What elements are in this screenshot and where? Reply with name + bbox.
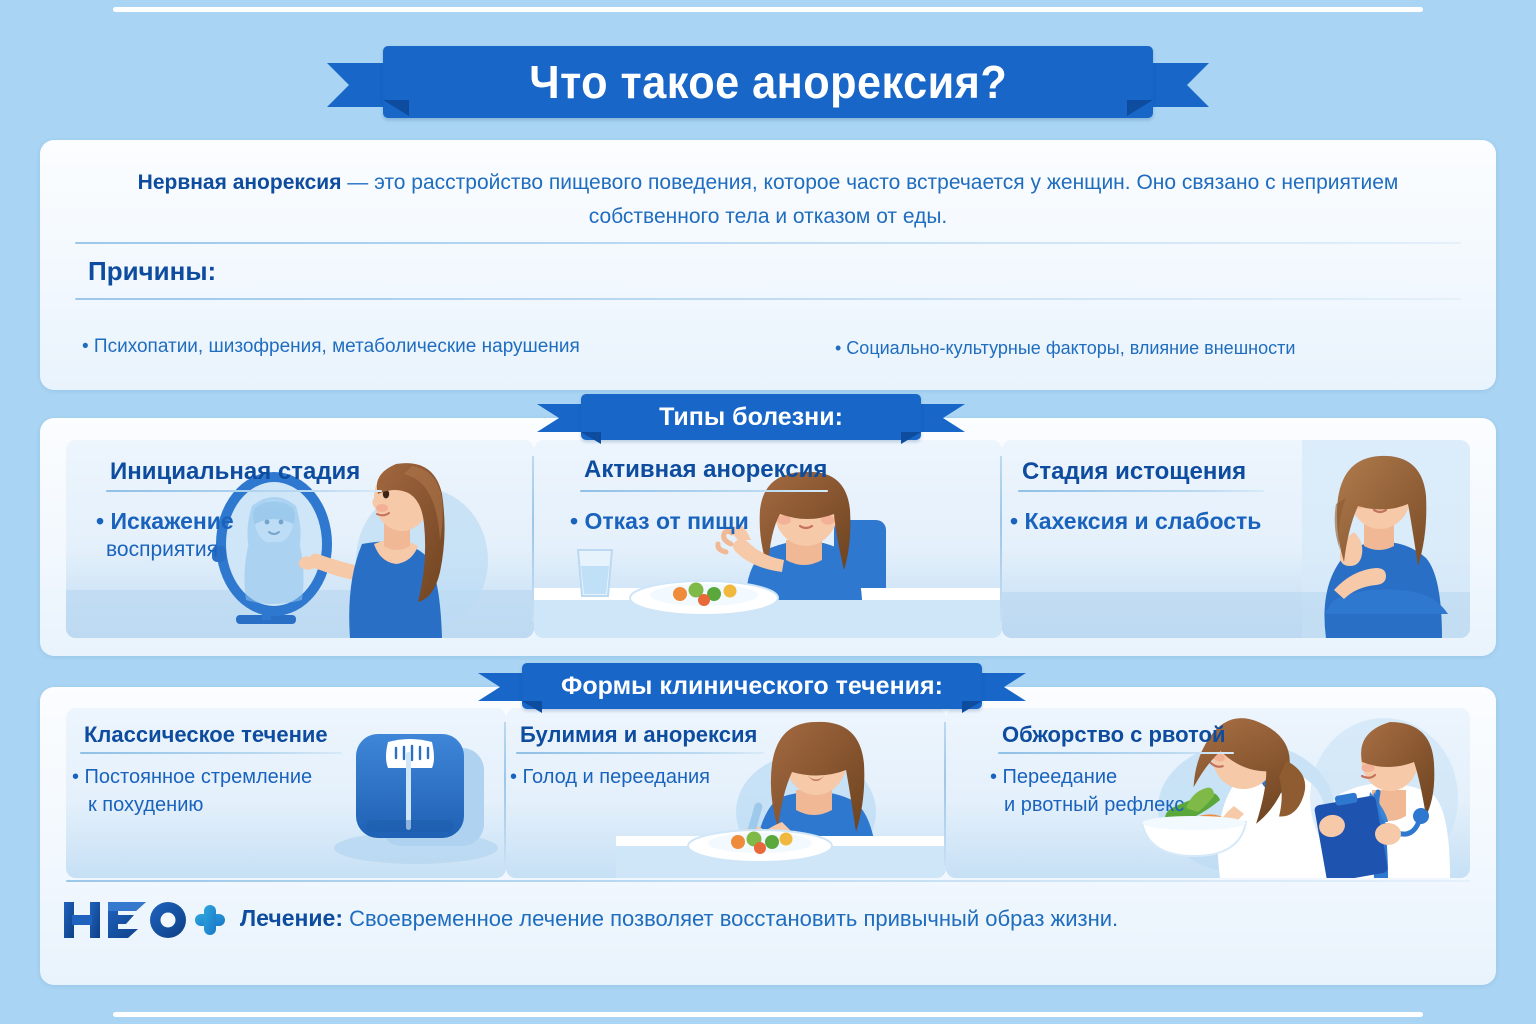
card-divider-1	[944, 722, 946, 866]
form-card-title: Булимия и анорексия	[520, 722, 757, 748]
card-divider-0	[532, 456, 534, 622]
form-card-bulimia: Булимия и анорексия • Голод и переедания	[506, 708, 946, 878]
logo-icon	[62, 896, 227, 944]
form-card-line1: • Переедание	[990, 766, 1117, 789]
type-card-title: Активная анорексия	[584, 456, 827, 484]
forms-section-title: Формы клинического течения:	[561, 672, 943, 701]
forms-card-row: Классическое течение • Постоянное стремл…	[66, 708, 1470, 878]
intro-panel: Нервная анорексия — это расстройство пищ…	[40, 140, 1496, 390]
type-card-initial: Инициальная стадия • Искажение восприяти…	[66, 440, 534, 638]
types-section-ribbon: Типы болезни:	[581, 394, 921, 440]
treatment-label: Лечение:	[240, 905, 343, 931]
bottom-trim-bar	[113, 1012, 1423, 1017]
intro-divider-top	[75, 242, 1461, 244]
type-card-title: Инициальная стадия	[110, 458, 360, 486]
treatment-text: Своевременное лечение позволяет восстано…	[343, 906, 1118, 931]
form-card-classic: Классическое течение • Постоянное стремл…	[66, 708, 506, 878]
card-divider-1	[1000, 456, 1002, 622]
type-card-active: Активная анорексия • Отказ от пищи	[534, 440, 1002, 638]
ribbon-plate: Формы клинического течения:	[522, 663, 982, 709]
top-trim-bar	[113, 7, 1423, 12]
ribbon-plate: Типы болезни:	[581, 394, 921, 440]
intro-rest: — это расстройство пищевого поведения, к…	[341, 171, 1398, 228]
form-card-divider	[80, 752, 342, 754]
type-card-line1: • Искажение	[96, 508, 234, 535]
type-card-divider	[106, 490, 382, 492]
cause-item-0: • Психопатии, шизофрения, метаболические…	[82, 336, 580, 358]
infographic-root: Что такое анорексия? Нервная анорексия —…	[0, 0, 1536, 1024]
card-divider-0	[504, 722, 506, 866]
form-card-title: Обжорство с рвотой	[1002, 722, 1226, 748]
page-title: Что такое анорексия?	[529, 55, 1007, 109]
forms-section-ribbon: Формы клинического течения:	[522, 663, 982, 709]
causes-heading: Причины:	[88, 256, 216, 287]
type-card-divider	[580, 490, 828, 492]
footer-divider	[66, 880, 1470, 882]
form-card-title: Классическое течение	[84, 722, 328, 748]
form-card-line2: к похудению	[88, 794, 203, 817]
intro-lead: Нервная анорексия	[138, 171, 342, 194]
type-card-line1: • Кахексия и слабость	[1010, 508, 1261, 535]
form-card-title-rest: и анорексия	[618, 722, 758, 747]
type-card-line2: восприятия	[106, 538, 218, 562]
types-card-row: Инициальная стадия • Искажение восприяти…	[66, 440, 1470, 638]
intro-divider-bottom	[75, 298, 1461, 300]
form-card-divider	[516, 752, 764, 754]
types-section-title: Типы болезни:	[659, 403, 843, 432]
form-card-line2: и рвотный рефлекс	[1004, 794, 1184, 817]
page-title-ribbon: Что такое анорексия?	[383, 46, 1153, 118]
form-card-title-bold: Булимия	[520, 722, 618, 747]
type-card-exhaustion: Стадия истощения • Кахексия и слабость	[1002, 440, 1470, 638]
form-card-purging: Обжорство с рвотой • Переедание и рвотны…	[946, 708, 1470, 878]
cause-item-1: • Социально-культурные факторы, влияние …	[835, 338, 1295, 359]
type-card-line1: • Отказ от пищи	[570, 508, 749, 535]
type-card-divider	[1018, 490, 1264, 492]
treatment-line: Лечение: Своевременное лечение позволяет…	[240, 905, 1118, 932]
form-card-line1: • Голод и переедания	[510, 766, 710, 789]
intro-paragraph: Нервная анорексия — это расстройство пищ…	[80, 166, 1456, 234]
type-card-title: Стадия истощения	[1022, 458, 1246, 486]
form-card-divider	[998, 752, 1234, 754]
neo-plus-logo	[62, 896, 227, 944]
form-card-line1: • Постоянное стремление	[72, 766, 312, 789]
ribbon-plate: Что такое анорексия?	[383, 46, 1153, 118]
